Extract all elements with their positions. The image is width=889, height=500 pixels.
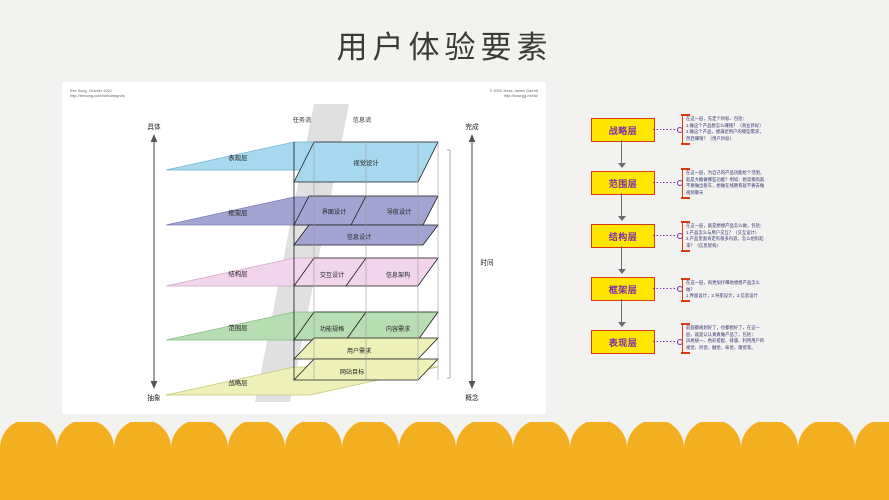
connector-0: [653, 129, 679, 130]
bottom-wave-decoration: [0, 422, 889, 500]
note-1: 在这一层，为自己的产品功能给个范围， 就是大概做哪些功能？例如：想卖猪肉就 不要…: [682, 168, 840, 199]
layer-label-1: 框架层: [228, 208, 248, 217]
cell-label-6: 功能规格: [320, 325, 344, 333]
flow-arrow-head-0: [618, 163, 626, 168]
flow-arrow-3: [621, 299, 622, 323]
connector-3: [653, 288, 679, 289]
connector-2: [653, 235, 679, 236]
flow-arrow-0: [621, 140, 622, 164]
cell-label-5: 信息架构: [386, 271, 410, 279]
cell-label-0: 视觉设计: [353, 158, 379, 167]
connector-1: [653, 182, 679, 183]
axis-left-top-label: 具体: [147, 122, 161, 131]
flow-arrow-2: [621, 246, 622, 270]
note-0: 在这一层，先定个目标、包括： 1.做这个产品想怎么赚钱？（商业目标） 2.做这个…: [682, 114, 840, 145]
flow-step-0[interactable]: 战略层: [591, 118, 655, 142]
axis-left-bottom-label: 抽象: [147, 393, 161, 402]
cell-label-3: 信息设计: [347, 233, 371, 241]
flow-step-4[interactable]: 表现层: [591, 330, 655, 354]
layer-label-4: 战略层: [228, 378, 248, 387]
stack-bracket: [447, 150, 450, 378]
cell-label-2: 导航设计: [387, 208, 411, 216]
flow-step-1[interactable]: 范围层: [591, 171, 655, 195]
axis-right: 完成 时间 概念: [465, 122, 494, 402]
flow-arrow-1: [621, 193, 622, 217]
stream-label-info: 信息流: [353, 116, 372, 124]
flow-step-2[interactable]: 结构层: [591, 224, 655, 248]
flow-arrow-head-2: [618, 269, 626, 274]
stream-label-task: 任务流: [293, 116, 312, 124]
axis-left: 具体 抽象: [147, 122, 161, 402]
annotation-panel: 战略层 在这一层，先定个目标、包括： 1.做这个产品想怎么赚钱？（商业目标） 2…: [586, 118, 838, 386]
note-3: 在这一层，再更加仔细地想想产品怎么 做？ 1.界面设计，2.导航设计，3.信息设…: [682, 278, 840, 302]
cell-label-9: 网站目标: [340, 368, 364, 376]
axis-right-bottom-label: 概念: [465, 393, 479, 402]
layer-label-2: 结构层: [228, 269, 248, 278]
flow-arrow-head-1: [618, 216, 626, 221]
page-title: 用户体验要素: [0, 22, 889, 67]
connector-4: [653, 341, 679, 342]
note-4: 前面都规划好了，也都想好了，在这一 层，就是认认真真做产品了，包括： 风格统一、…: [682, 323, 840, 354]
axis-right-middle-label: 时间: [480, 258, 494, 267]
layer-label-3: 范围层: [228, 323, 248, 332]
ux-elements-diagram: 任务流 信息流 具体 抽象 完成 时间 概念: [62, 82, 546, 414]
flow-arrow-head-3: [618, 322, 626, 327]
slide-canvas: 用户体验要素 Rex Song, October 2010 http://rex…: [0, 0, 889, 500]
cell-label-4: 交互设计: [320, 271, 344, 279]
cell-label-8: 用户需求: [347, 347, 371, 355]
cell-label-1: 界面设计: [322, 208, 346, 216]
note-2: 在这一层，就是想想产品怎么做，包括： 1.产品怎么与用户交互？（交互设计） 2.…: [682, 221, 840, 252]
layer-label-0: 表现层: [228, 153, 248, 162]
cell-label-7: 内容需求: [386, 325, 410, 333]
axis-right-top-label: 完成: [465, 122, 479, 131]
diagram-card: Rex Song, October 2010 http://rexsong.co…: [62, 82, 546, 414]
flow-step-3[interactable]: 框架层: [591, 277, 655, 301]
